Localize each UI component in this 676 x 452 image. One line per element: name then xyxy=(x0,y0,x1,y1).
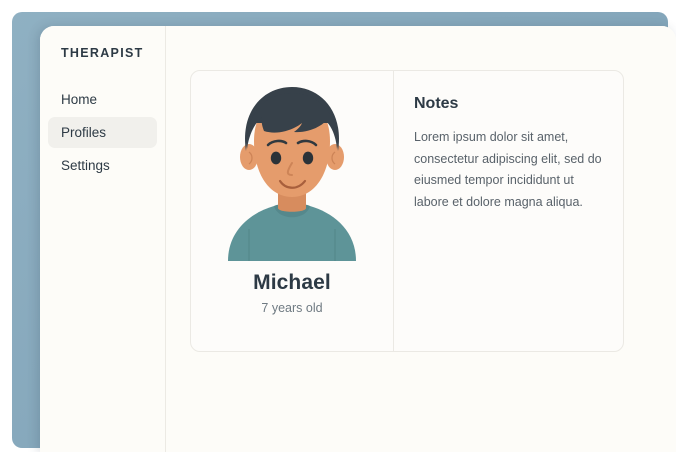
profile-name: Michael xyxy=(253,271,331,295)
sidebar: THERAPIST Home Profiles Settings xyxy=(40,26,166,452)
sidebar-item-settings[interactable]: Settings xyxy=(48,150,157,181)
boy-avatar-illustration xyxy=(216,79,368,261)
notes-body: Lorem ipsum dolor sit amet, consectetur … xyxy=(414,127,603,213)
sidebar-nav: Home Profiles Settings xyxy=(40,84,165,181)
profile-card: Michael 7 years old Notes Lorem ipsum do… xyxy=(190,70,624,352)
notes-title: Notes xyxy=(414,95,603,113)
app-brand-title: THERAPIST xyxy=(40,26,165,60)
screen: THERAPIST Home Profiles Settings xyxy=(0,0,676,452)
app-window: THERAPIST Home Profiles Settings xyxy=(40,26,676,452)
profile-age: 7 years old xyxy=(261,301,322,315)
sidebar-item-home[interactable]: Home xyxy=(48,84,157,115)
notes-pane: Notes Lorem ipsum dolor sit amet, consec… xyxy=(394,71,623,351)
main-content: Michael 7 years old Notes Lorem ipsum do… xyxy=(166,26,676,452)
sidebar-item-profiles[interactable]: Profiles xyxy=(48,117,157,148)
avatar-pane: Michael 7 years old xyxy=(191,71,394,351)
